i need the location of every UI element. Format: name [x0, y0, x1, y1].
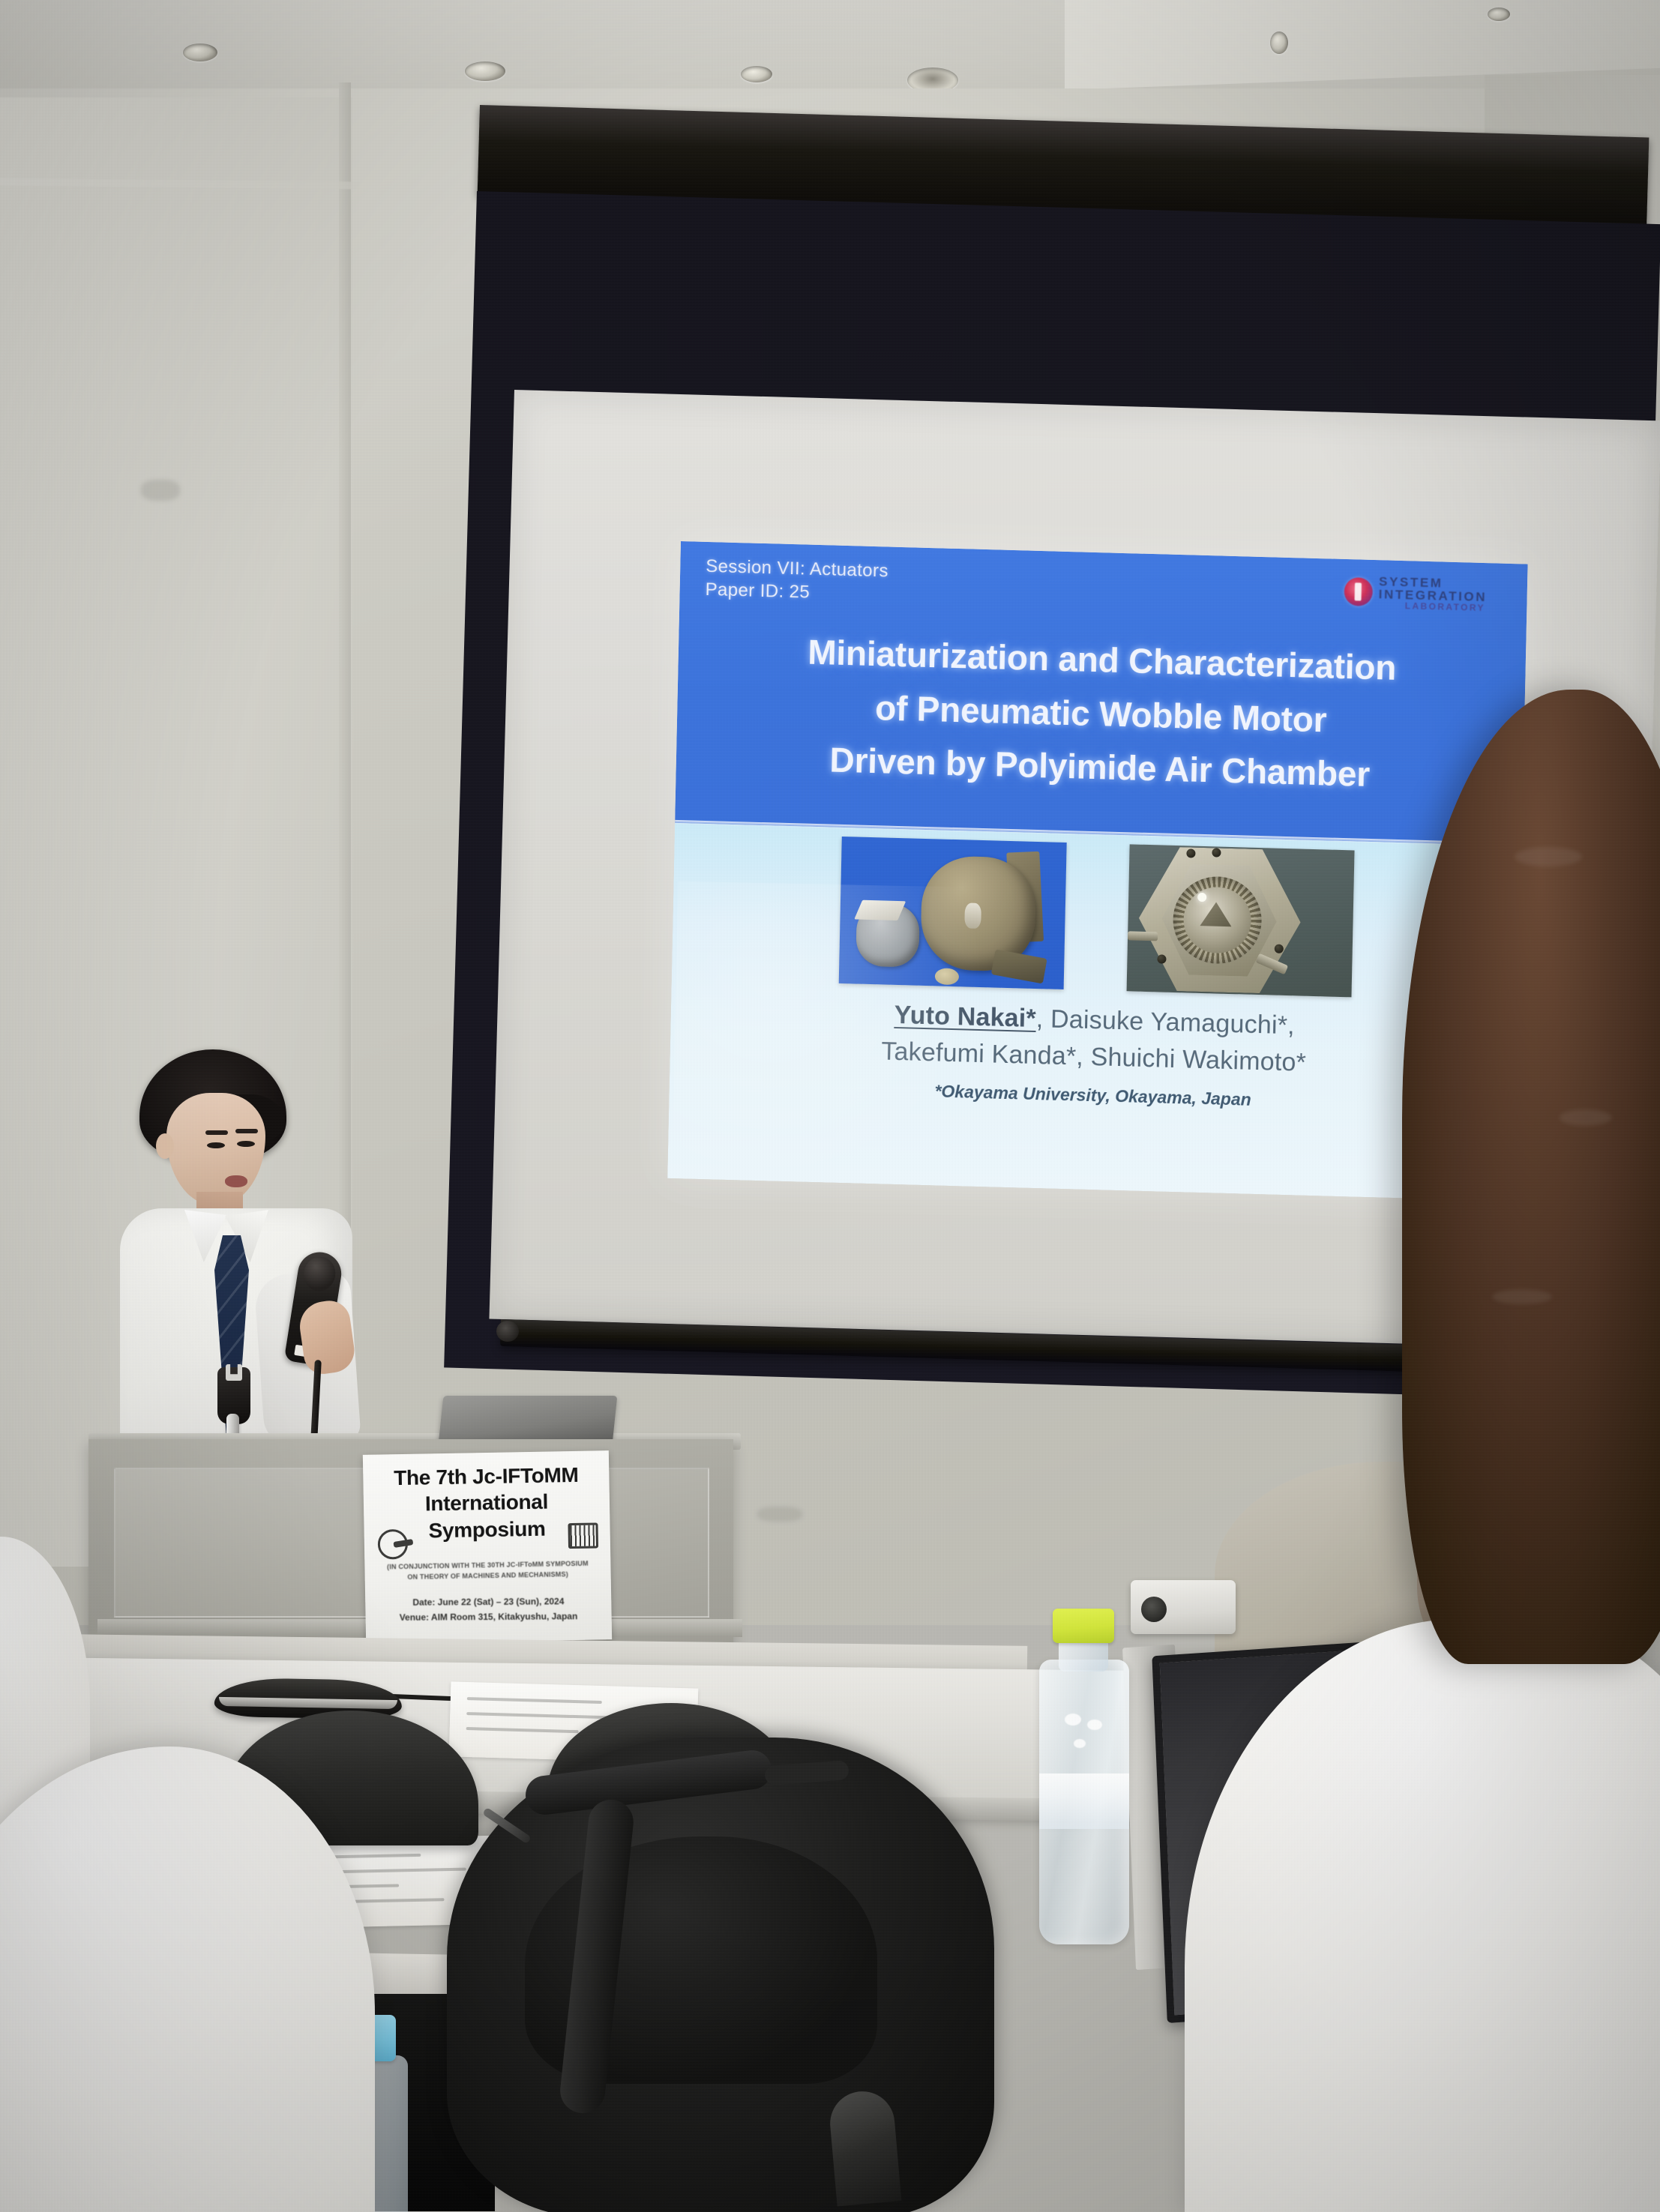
- figure-detail: [991, 949, 1047, 983]
- slide-title: Miniaturization and Characterization of …: [676, 622, 1526, 806]
- sign-title-line-2: International: [364, 1487, 610, 1518]
- downlight-icon: [183, 43, 217, 61]
- sign-date: Date: June 22 (Sat) – 23 (Sun), 2024: [365, 1594, 611, 1611]
- system-integration-laboratory-logo: SYSTEM INTEGRATION LABORATORY: [1344, 570, 1508, 618]
- slide-figure-row: [672, 832, 1522, 1005]
- bottle-label: [1039, 1773, 1129, 1829]
- lab-emblem-icon: [1344, 577, 1373, 606]
- downlight-icon: [1488, 7, 1510, 21]
- downlight-icon: [741, 66, 772, 82]
- logo-line-3: LABORATORY: [1405, 601, 1487, 612]
- presenting-author-name: Yuto Nakai*: [894, 1001, 1036, 1033]
- bottle-highlight: [1065, 1714, 1081, 1726]
- projected-slide: Session VII: Actuators Paper ID: 25 SYST…: [667, 541, 1527, 1201]
- presenter-eye: [237, 1141, 255, 1147]
- conference-photo-scene: Session VII: Actuators Paper ID: 25 SYST…: [0, 0, 1660, 2212]
- sign-meta: Date: June 22 (Sat) – 23 (Sun), 2024 Ven…: [365, 1594, 611, 1626]
- slide-figure-hex-motor: [1127, 844, 1355, 997]
- sign-venue: Venue: AIM Room 315, Kitakyushu, Japan: [365, 1609, 611, 1626]
- paper-text-line: [467, 1697, 602, 1704]
- presenter-face: [166, 1093, 265, 1205]
- slide-paper-id: Paper ID: 25: [705, 579, 810, 603]
- hair-highlight: [1492, 1289, 1552, 1304]
- sign-title-line-1: The 7th Jc-IFToMM: [363, 1461, 610, 1492]
- book-icon: [568, 1522, 598, 1549]
- wall-blemish: [757, 1507, 802, 1522]
- hair-highlight: [1560, 1109, 1612, 1126]
- wall-blemish: [141, 480, 180, 501]
- bottle-cap-icon[interactable]: [1053, 1609, 1114, 1643]
- projector-unit: [1131, 1580, 1236, 1634]
- gear-icon: [378, 1529, 409, 1560]
- downlight-icon: [465, 61, 505, 81]
- figure-detail: [854, 900, 906, 920]
- slide-figure-prototypes: [839, 837, 1067, 989]
- symposium-sign: The 7th Jc-IFToMM International Symposiu…: [363, 1450, 612, 1644]
- presenter-eye: [207, 1142, 225, 1148]
- bottle-highlight: [1087, 1720, 1102, 1730]
- podium-laptop[interactable]: [439, 1396, 618, 1444]
- hair-highlight: [1515, 847, 1582, 867]
- presenter-mouth: [225, 1175, 247, 1187]
- sign-subtitle: (IN CONJUNCTION WITH THE 30TH JC-IFToMM …: [364, 1558, 610, 1584]
- paper-text-line: [466, 1727, 579, 1733]
- figure-rod: [1128, 931, 1158, 941]
- presenter-eyebrow: [205, 1130, 228, 1135]
- downlight-icon: [1270, 31, 1288, 54]
- authors-line-1-rest: , Daisuke Yamaguchi*,: [1035, 1004, 1295, 1040]
- bottle-highlight: [1074, 1739, 1086, 1748]
- presenter-ear: [156, 1133, 174, 1159]
- presenter-eyebrow: [235, 1129, 258, 1133]
- figure-coin: [935, 968, 959, 985]
